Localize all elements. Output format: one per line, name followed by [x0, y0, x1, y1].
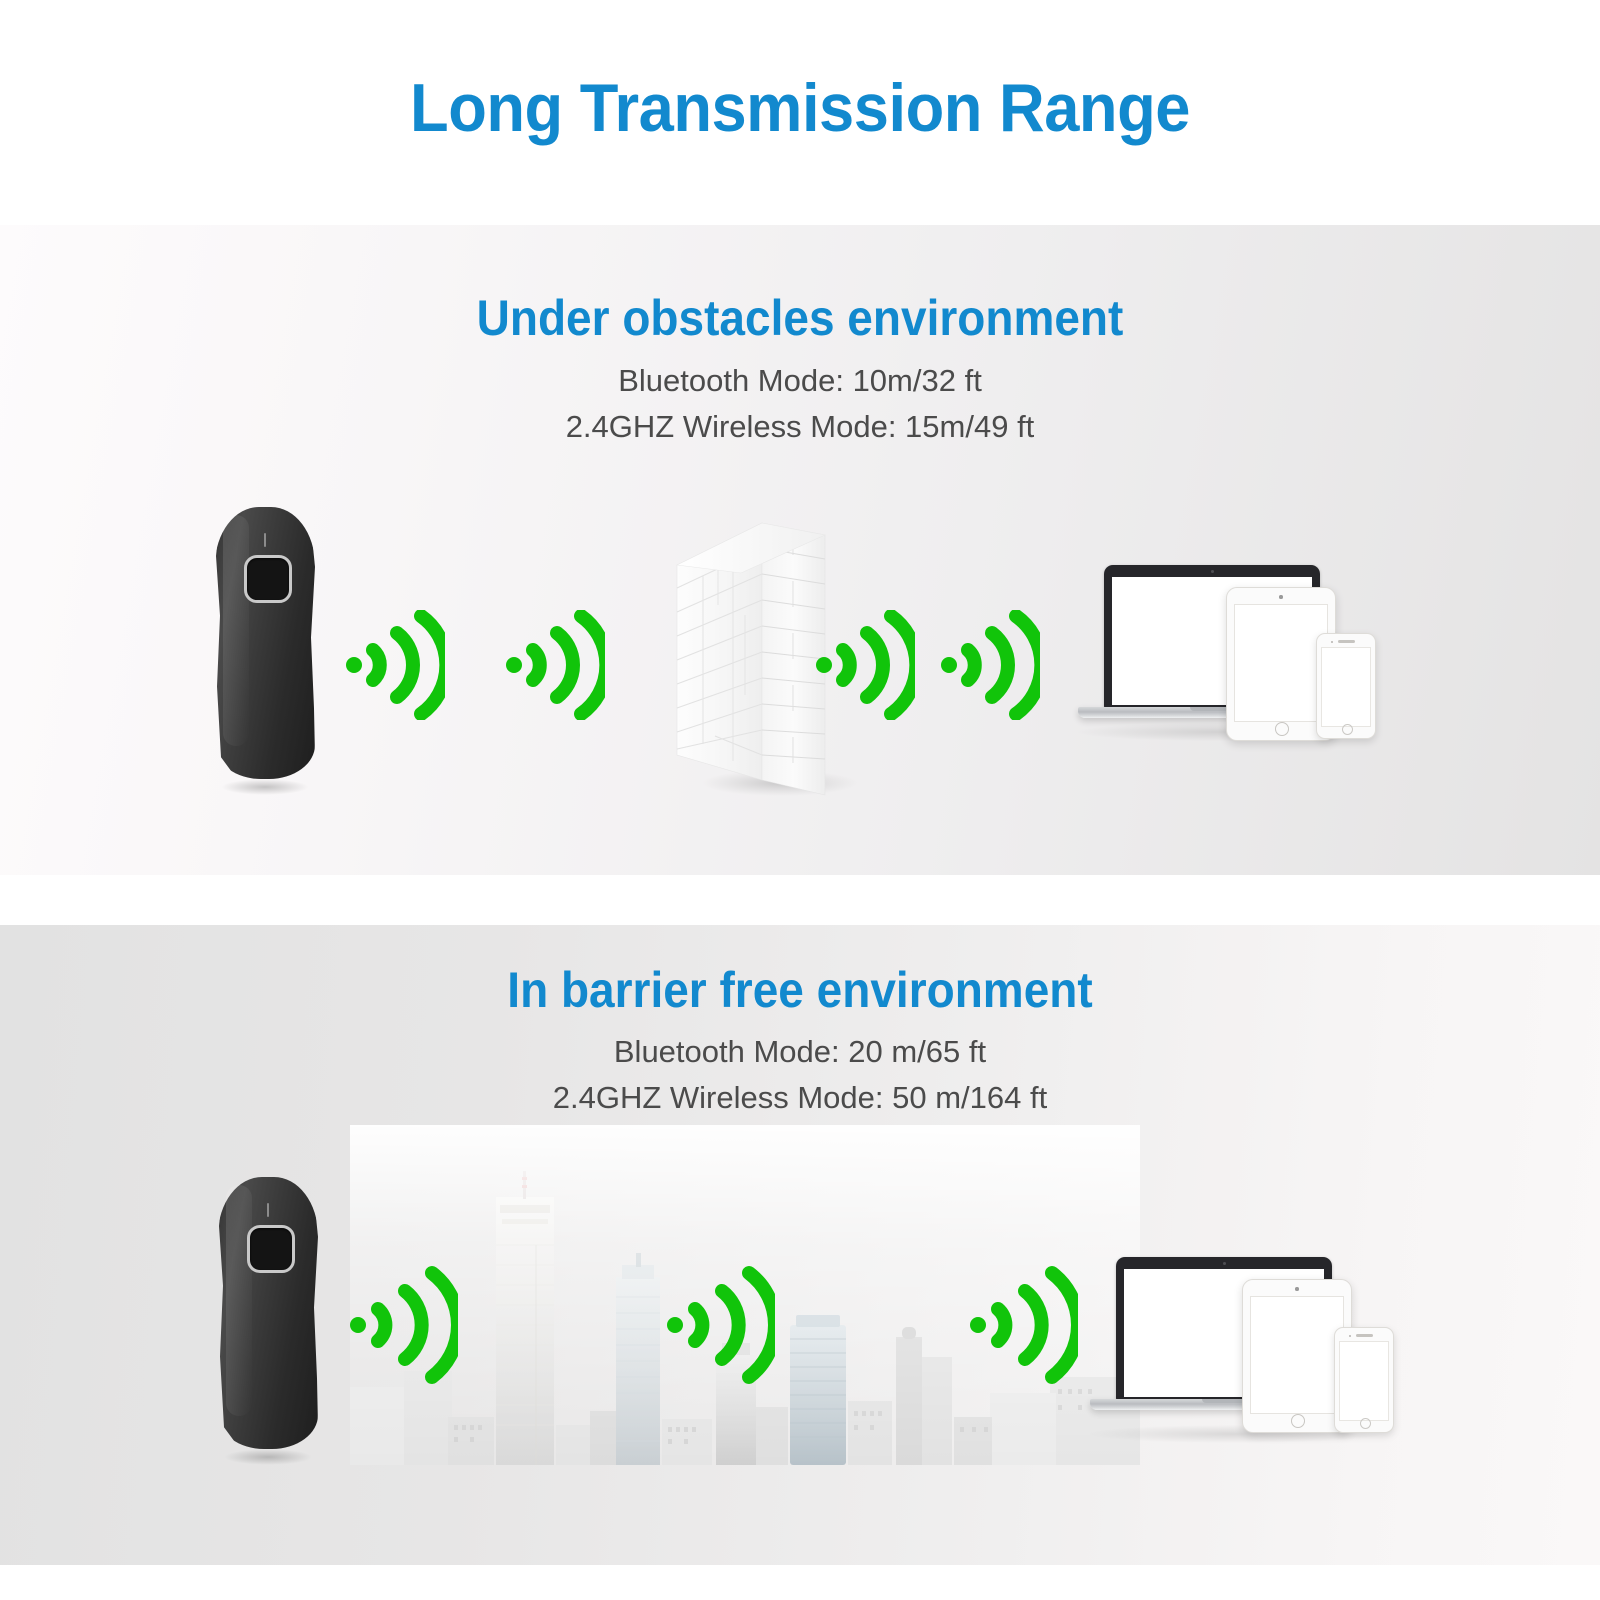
signal-waves-icon — [505, 610, 605, 720]
phone-screen — [1339, 1341, 1389, 1421]
spec-line-bluetooth: Bluetooth Mode: 20 m/65 ft — [0, 1029, 1600, 1075]
scanner-body — [215, 507, 315, 779]
section-barrier-free: In barrier free environment Bluetooth Mo… — [0, 925, 1600, 1565]
laptop-trackpad-notch — [1202, 1399, 1246, 1403]
device-group — [1078, 565, 1368, 745]
scanner-scan-button[interactable] — [247, 1225, 295, 1273]
section-heading-barrier-free: In barrier free environment — [64, 965, 1536, 1015]
tablet-screen — [1250, 1296, 1344, 1414]
section-specs-barrier-free: Bluetooth Mode: 20 m/65 ft 2.4GHZ Wirele… — [0, 1029, 1600, 1121]
phone-camera-icon — [1331, 641, 1333, 643]
tablet-home-button[interactable] — [1291, 1414, 1305, 1428]
signal-waves-icon — [968, 1265, 1078, 1385]
signal-waves-icon — [665, 1265, 775, 1385]
phone-home-button[interactable] — [1360, 1418, 1371, 1429]
spec-line-wireless: 2.4GHZ Wireless Mode: 15m/49 ft — [0, 404, 1600, 450]
page-title: Long Transmission Range — [56, 74, 1544, 142]
scanner-body — [218, 1177, 318, 1449]
signal-waves-icon — [815, 610, 915, 720]
phone-speaker-icon — [1356, 1334, 1373, 1337]
scanner-shadow — [224, 1449, 312, 1465]
section-under-obstacles: Under obstacles environment Bluetooth Mo… — [0, 225, 1600, 875]
signal-waves-icon — [345, 610, 445, 720]
phone-camera-icon — [1349, 1335, 1351, 1337]
tablet-camera-icon — [1295, 1287, 1299, 1291]
laptop-camera-icon — [1223, 1262, 1226, 1265]
device-group — [1090, 1257, 1390, 1447]
laptop-camera-icon — [1211, 570, 1214, 573]
phone-shell — [1316, 633, 1376, 739]
scanner-led-icon — [267, 1203, 269, 1217]
phone-screen — [1321, 647, 1371, 727]
spec-line-wireless: 2.4GHZ Wireless Mode: 50 m/164 ft — [0, 1075, 1600, 1121]
signal-waves-icon — [940, 610, 1040, 720]
section-specs-under-obstacles: Bluetooth Mode: 10m/32 ft 2.4GHZ Wireles… — [0, 358, 1600, 450]
scanner-led-icon — [264, 533, 266, 547]
scanner-shadow — [221, 779, 309, 795]
tablet-screen — [1234, 604, 1328, 722]
phone-speaker-icon — [1338, 640, 1355, 643]
section-heading-under-obstacles: Under obstacles environment — [64, 293, 1536, 343]
phone-home-button[interactable] — [1342, 724, 1353, 735]
phone-shell — [1334, 1327, 1394, 1433]
signal-waves-icon — [348, 1265, 458, 1385]
barcode-scanner — [215, 507, 315, 787]
barcode-scanner — [218, 1177, 318, 1457]
scanner-scan-button[interactable] — [244, 555, 292, 603]
tablet-home-button[interactable] — [1275, 722, 1289, 736]
tablet-camera-icon — [1279, 595, 1283, 599]
spec-line-bluetooth: Bluetooth Mode: 10m/32 ft — [0, 358, 1600, 404]
